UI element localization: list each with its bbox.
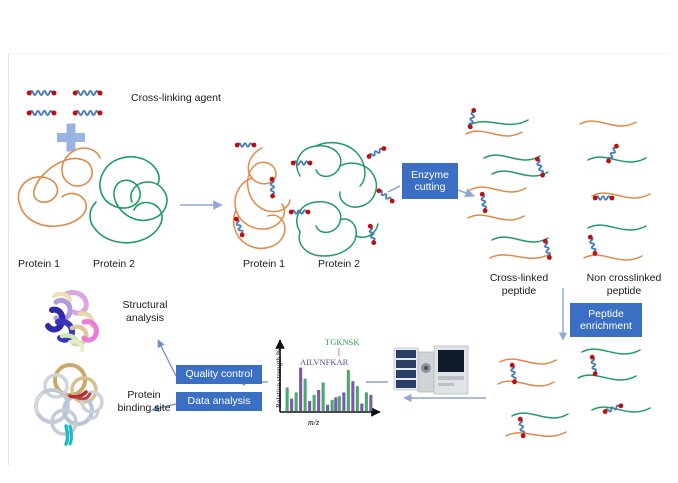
spectrum-bar [338,396,341,411]
mass-spectrum-chart [280,340,380,412]
protein-1-label-mid: Protein 1 [243,258,285,271]
non-crosslinked-peptide-label: Non crosslinked peptide [574,272,674,297]
crosslinked-peptide-label: Cross-linked peptide [476,272,562,297]
structure-ribbon-bottom [36,365,102,444]
spectrum-bar [322,382,325,411]
spectrum-x-axis-label: m/z [308,418,319,427]
structure-ribbon-top [48,292,96,350]
diagram-canvas: Cross-linking agent Protein 1 Protein 2 … [0,0,678,483]
spectrum-y-axis-label: Relative strength % [274,349,283,408]
protein-2-label-left: Protein 2 [93,258,135,271]
spectrum-bar [295,392,298,411]
crosslinked-peptide-group [466,108,552,261]
spectrum-bar [356,386,359,411]
arrow-to-structural-analysis [158,340,176,376]
protein-2-label-mid: Protein 2 [318,258,360,271]
peptide-alpha-sequence: TGKNSK [325,337,359,347]
spectrum-bar [304,379,307,411]
spectrum-bar [331,400,334,411]
arrow-complex-to-enzyme [388,186,400,192]
enzyme-cutting-box[interactable]: Enzyme cutting [402,163,458,199]
spectrum-bar [290,399,293,411]
crosslinking-agent-label: Cross-linking agent [131,92,221,105]
quality-control-box[interactable]: Quality control [176,365,262,384]
spectrum-bar [317,390,320,411]
spectrum-bar [351,381,354,411]
protein-binding-site-label: Protein binding site [108,389,180,414]
spectrum-bars [286,368,373,411]
plus-icon [57,124,85,152]
spectrum-bar [369,395,372,411]
spectrum-bar [299,368,302,411]
spectrum-bar [342,392,345,411]
workflow-illustration [0,0,678,483]
crosslink-marker-icon: | [338,346,340,356]
spectrum-bar [334,397,337,411]
spectrum-bar [365,392,368,411]
spectrum-bar [347,370,350,411]
crosslinked-complex [233,143,395,256]
protein-1-chain-left [18,148,100,226]
non-crosslinked-peptide-group [580,121,650,260]
peptide-enrichment-box[interactable]: Peptide enrichment [570,303,642,337]
spectrum-bar [308,401,311,411]
peptide-beta-sequence: AILVNFKAR [300,357,348,367]
spectrum-bar [313,395,316,411]
structural-analysis-label: Structural analysis [110,299,180,324]
crosslinking-agent-cluster [27,91,103,116]
spectrum-bar [360,404,363,411]
protein-1-label-left: Protein 1 [18,258,60,271]
spectrum-bar [286,387,289,411]
arrow-enzyme-to-peptides [458,190,474,196]
data-analysis-box[interactable]: Data analysis [176,392,262,411]
spectrum-bar [326,405,329,411]
mass-spectrometer-icon [394,346,468,394]
protein-2-chain-left [90,157,167,243]
enriched-peptide-group [498,349,650,438]
